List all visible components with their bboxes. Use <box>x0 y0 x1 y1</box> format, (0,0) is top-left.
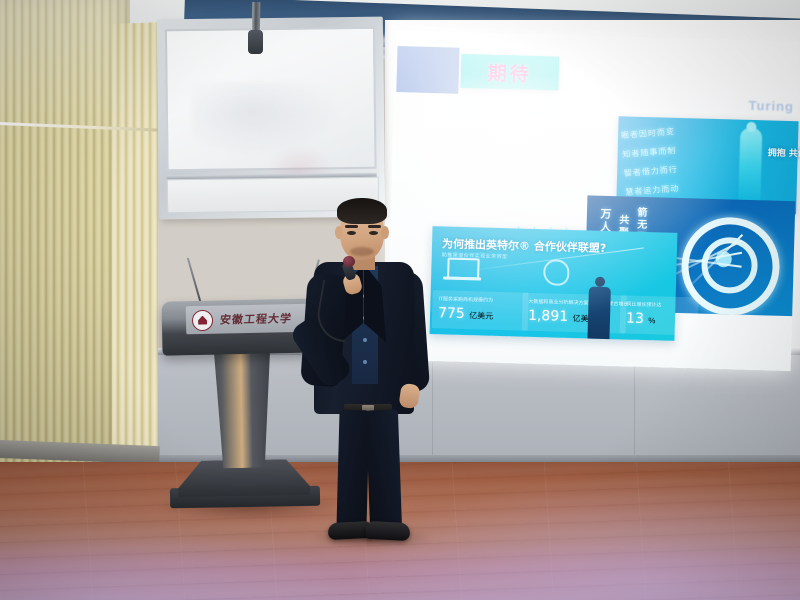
presentation-photo-scene: 期待 Turing 眠者因时而变 知者随事而制 智者借力而行 慧者运力而动 拥抱… <box>0 0 800 600</box>
wall-panel-seam <box>634 358 635 458</box>
university-name: 安徽工程大学 <box>219 310 293 328</box>
slide-accent-block <box>396 46 459 94</box>
human-figure-graphic <box>738 128 762 205</box>
slide-title-chip: 期待 <box>460 54 559 91</box>
slide-upper-card-right-text: 拥抱 共创 <box>768 146 800 161</box>
wall-shading <box>0 0 130 470</box>
slide-stat-unit: 亿美元 <box>469 311 493 321</box>
speaker-mouth-area <box>350 247 374 256</box>
slide-stat-caption: IT服务采购商机规模约为 <box>438 295 522 304</box>
slide-line: 智者借力而行 <box>624 160 733 179</box>
speaker-ear <box>335 226 343 239</box>
projector-icon <box>248 30 263 54</box>
slide-line: 眠者因时而变 <box>621 122 730 141</box>
slide-line: 慧者运力而动 <box>625 179 734 198</box>
speaker-person <box>300 198 432 558</box>
university-crest-icon <box>192 309 213 330</box>
speaker-right-shoe <box>366 521 411 541</box>
speaker-eye <box>347 231 356 235</box>
slide-line: 知者随事而制 <box>622 141 731 160</box>
slide-partner-card: 为何推出英特尔® 合作伙伴联盟? 助推渠道伙伴实现业务转型 IT服务采购商机规模… <box>430 226 678 341</box>
speaker-eyebrow <box>345 225 358 228</box>
shirt-button <box>363 360 367 364</box>
slide-stat-value: 775 <box>438 305 465 322</box>
slide-stat: 大数据和商业分析解决方案预计年均复合增长 1,891 亿美元 <box>522 293 627 334</box>
wood-slat-wall-return <box>112 22 158 464</box>
wood-slat-wall-left <box>0 0 130 470</box>
laptop-icon <box>447 258 480 280</box>
slide-title-text: 期待 <box>487 58 532 86</box>
slide-upper-card-lines: 眠者因时而变 知者随事而制 智者借力而行 慧者运力而动 <box>621 122 735 206</box>
whiteboard-surface <box>165 27 377 172</box>
slide-stat-unit: % <box>648 316 655 325</box>
speaker-ear <box>381 226 389 239</box>
microphone-head-icon <box>343 256 355 267</box>
slide-stat-value: 13 <box>626 311 644 327</box>
slide-speaker-photo <box>587 276 611 339</box>
speaker-right-leg <box>366 409 402 530</box>
brain-icon <box>543 259 570 286</box>
slide-stat: 同比增长预计达 13 % <box>620 295 699 335</box>
slide-speaker-head <box>595 277 605 287</box>
speaker-right-hand <box>398 383 420 409</box>
slide-brandmark: Turing <box>748 98 794 114</box>
speaker-eyebrow <box>368 225 381 228</box>
slide-stat-caption: 同比增长预计达 <box>626 301 692 310</box>
whiteboard <box>157 17 385 220</box>
wall-panel-seam <box>432 358 433 458</box>
projection-screen: 期待 Turing 眠者因时而变 知者随事而制 智者借力而行 慧者运力而动 拥抱… <box>387 30 800 371</box>
lectern-microphone-arm <box>187 258 202 305</box>
speaker-left-leg <box>336 410 369 529</box>
speaker-eye <box>369 231 378 235</box>
slide-speaker-body <box>587 286 610 339</box>
shirt-button <box>363 338 367 342</box>
speaker-hair <box>337 198 387 224</box>
slide-stat: IT服务采购商机规模约为 775 亿美元 <box>432 290 529 331</box>
slide-stat-value: 1,891 <box>528 308 569 325</box>
